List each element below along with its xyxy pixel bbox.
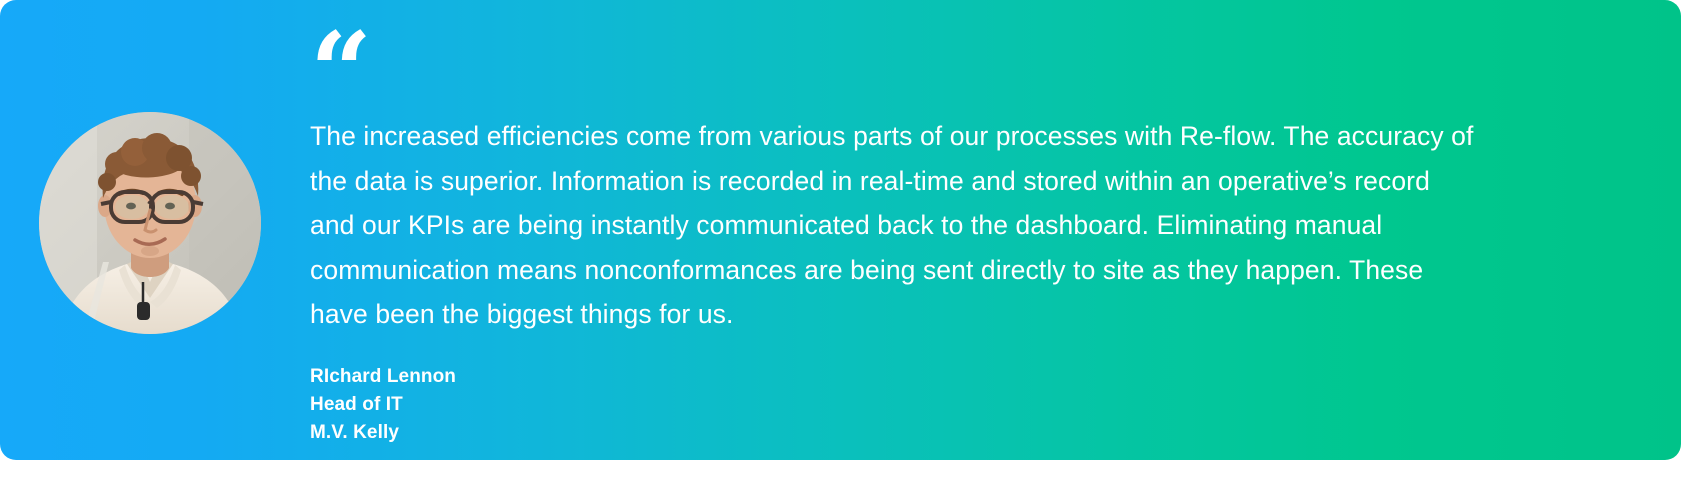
testimonial-card: “ The increased efficiencies come from v…: [0, 0, 1681, 460]
author-name: RIchard Lennon: [310, 363, 1481, 391]
author-role: Head of IT: [310, 391, 1481, 419]
quote-open-icon: “: [310, 26, 1481, 100]
avatar-portrait-image: [39, 112, 261, 334]
quote-text: The increased efficiencies come from var…: [310, 114, 1481, 337]
avatar-column: [0, 0, 300, 334]
avatar: [39, 112, 261, 334]
author-company: M.V. Kelly: [310, 419, 1481, 447]
attribution: RIchard Lennon Head of IT M.V. Kelly: [310, 363, 1481, 447]
testimonial-content: “ The increased efficiencies come from v…: [300, 0, 1681, 447]
